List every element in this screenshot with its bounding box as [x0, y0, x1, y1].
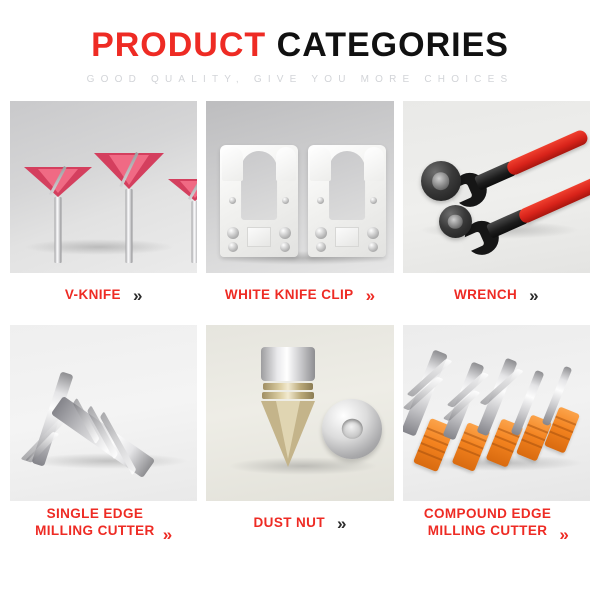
page-title: PRODUCT CATEGORIES [0, 28, 600, 62]
category-label-text: WRENCH [454, 287, 517, 304]
page-subtitle: GOOD QUALITY, GIVE YOU MORE CHOICES [0, 74, 600, 85]
page-title-primary: PRODUCT [91, 26, 266, 64]
category-label-line2: MILLING CUTTER [424, 523, 551, 540]
category-image-wrench [403, 101, 590, 273]
category-label-white-knife-clip[interactable]: WHITE KNIFE CLIP » [206, 273, 393, 317]
category-label-text: COMPOUND EDGE MILLING CUTTER [424, 506, 551, 540]
category-image-single-edge-milling-cutter [10, 325, 197, 501]
category-label-text: V-KNIFE [65, 287, 121, 304]
category-card-dust-nut[interactable]: DUST NUT » [206, 325, 393, 545]
page-header: PRODUCT CATEGORIES GOOD QUALITY, GIVE YO… [0, 0, 600, 85]
category-image-v-knife [10, 101, 197, 273]
product-categories-page: PRODUCT CATEGORIES GOOD QUALITY, GIVE YO… [0, 0, 600, 600]
category-image-white-knife-clip [206, 101, 393, 273]
chevron-right-icon: » [133, 287, 142, 304]
category-label-wrench[interactable]: WRENCH » [403, 273, 590, 317]
category-card-white-knife-clip[interactable]: WHITE KNIFE CLIP » [206, 101, 393, 317]
category-label-text: SINGLE EDGE MILLING CUTTER [35, 506, 155, 540]
chevron-right-icon: » [366, 287, 375, 304]
category-card-v-knife[interactable]: V-KNIFE » [10, 101, 197, 317]
category-label-line2: MILLING CUTTER [35, 523, 155, 540]
chevron-right-icon: » [559, 526, 568, 543]
category-label-v-knife[interactable]: V-KNIFE » [10, 273, 197, 317]
category-card-wrench[interactable]: WRENCH » [403, 101, 590, 317]
category-label-text: DUST NUT [254, 515, 325, 532]
chevron-right-icon: » [529, 287, 538, 304]
category-card-single-edge-milling-cutter[interactable]: SINGLE EDGE MILLING CUTTER » [10, 325, 197, 545]
category-image-compound-edge-milling-cutter [403, 325, 590, 501]
category-label-text: WHITE KNIFE CLIP [225, 287, 354, 304]
category-label-compound-edge-milling-cutter[interactable]: COMPOUND EDGE MILLING CUTTER » [403, 501, 590, 545]
category-label-line1: SINGLE EDGE [47, 506, 144, 521]
category-card-compound-edge-milling-cutter[interactable]: COMPOUND EDGE MILLING CUTTER » [403, 325, 590, 545]
category-image-dust-nut [206, 325, 393, 501]
chevron-right-icon: » [163, 526, 172, 543]
page-title-secondary: CATEGORIES [277, 26, 509, 64]
category-label-dust-nut[interactable]: DUST NUT » [206, 501, 393, 545]
category-grid: V-KNIFE » [10, 101, 590, 545]
category-label-line1: COMPOUND EDGE [424, 506, 551, 521]
category-label-single-edge-milling-cutter[interactable]: SINGLE EDGE MILLING CUTTER » [10, 501, 197, 545]
chevron-right-icon: » [337, 515, 346, 532]
